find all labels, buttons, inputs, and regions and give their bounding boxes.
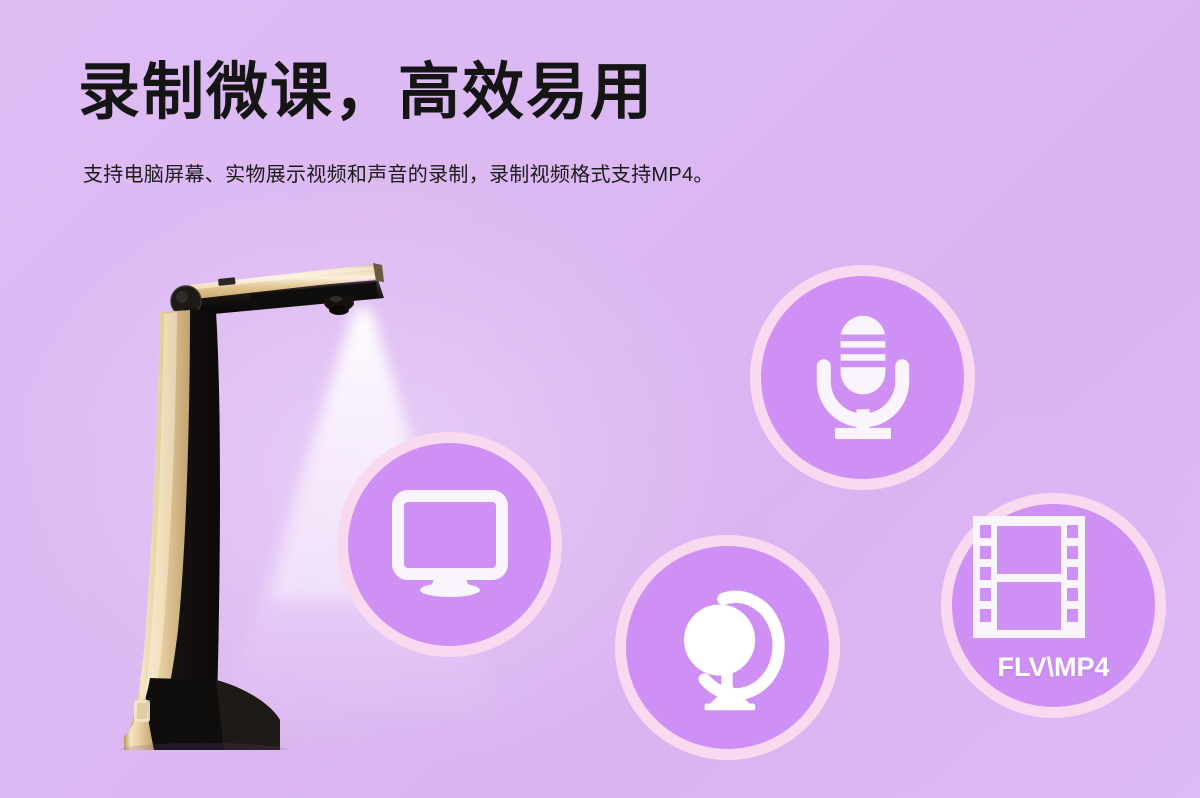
feature-monitor[interactable]: [348, 443, 551, 646]
promo-banner: 录制微课，高效易用 支持电脑屏幕、实物展示视频和声音的录制，录制视频格式支持MP…: [0, 0, 1200, 798]
monitor-icon: [348, 443, 551, 646]
feature-globe[interactable]: [626, 546, 829, 749]
globe-icon: [626, 546, 829, 749]
feature-microphone[interactable]: [761, 276, 964, 479]
microphone-icon: [761, 276, 964, 479]
page-subtitle: 支持电脑屏幕、实物展示视频和声音的录制，录制视频格式支持MP4。: [83, 158, 714, 187]
film-format-label: FLV\MP4: [952, 652, 1155, 683]
page-title: 录制微课，高效易用: [78, 58, 654, 127]
feature-video-format[interactable]: FLV\MP4: [952, 504, 1155, 707]
